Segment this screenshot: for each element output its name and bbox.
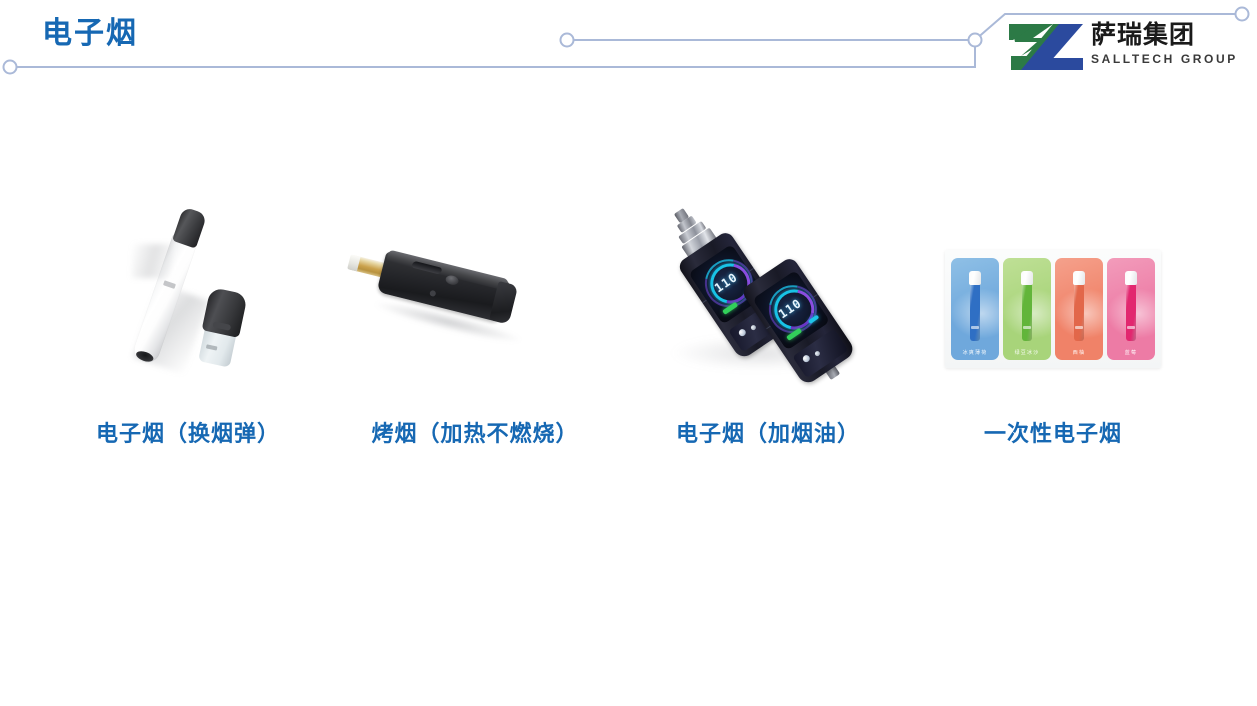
vape-brand-mark bbox=[1127, 326, 1135, 329]
product-caption: 一次性电子烟 bbox=[913, 416, 1193, 448]
vape-brand-mark bbox=[1023, 326, 1031, 329]
vape-mouthpiece-cap bbox=[1125, 271, 1137, 285]
product-card-pod-system: 电子烟（换烟弹） bbox=[48, 180, 328, 470]
product-image-pod-system bbox=[48, 180, 328, 395]
flavor-label: 绿豆冰沙 bbox=[1003, 349, 1051, 356]
deco-node-junction bbox=[969, 34, 982, 47]
product-card-e-liquid-mod: 110 bbox=[628, 180, 908, 470]
product-card-heat-not-burn: 烤烟（加热不燃烧） bbox=[335, 180, 615, 470]
flavor-card-strip: 冰爽薄荷 绿豆冰沙 西柚 bbox=[945, 250, 1161, 368]
product-image-disposable: 冰爽薄荷 绿豆冰沙 西柚 bbox=[913, 180, 1193, 395]
pod-top bbox=[202, 287, 248, 338]
vape-brand-mark bbox=[1075, 326, 1083, 329]
product-image-e-liquid-mod: 110 bbox=[628, 180, 908, 395]
vape-mods-illustration: 110 bbox=[648, 186, 888, 391]
product-grid: 电子烟（换烟弹） bbox=[0, 180, 1257, 470]
logo-name-en: SALLTECH GROUP bbox=[1091, 51, 1247, 67]
vape-mouthpiece-cap bbox=[1073, 271, 1085, 285]
pen-mouthpiece-cap bbox=[172, 206, 207, 248]
product-caption: 烤烟（加热不燃烧） bbox=[335, 416, 615, 448]
logo-text-block: 萨瑞集团 SALLTECH GROUP bbox=[1091, 20, 1247, 67]
product-image-heat-not-burn bbox=[335, 180, 615, 395]
page-title: 电子烟 bbox=[42, 14, 138, 54]
product-caption: 电子烟（加烟油） bbox=[628, 416, 908, 448]
company-logo: 萨瑞集团 SALLTECH GROUP bbox=[1007, 18, 1247, 78]
vape-brand-mark bbox=[971, 326, 979, 329]
flavor-card: 冰爽薄荷 bbox=[951, 258, 999, 360]
product-card-disposable: 冰爽薄荷 绿豆冰沙 西柚 bbox=[913, 180, 1193, 470]
product-caption: 电子烟（换烟弹） bbox=[48, 416, 328, 448]
flavor-label: 西柚 bbox=[1055, 349, 1103, 356]
vape-mouthpiece-cap bbox=[1021, 271, 1033, 285]
deco-node-middle bbox=[561, 34, 574, 47]
logo-mark-icon bbox=[1007, 22, 1085, 72]
flavor-card: 西柚 bbox=[1055, 258, 1103, 360]
logo-name-cn: 萨瑞集团 bbox=[1091, 20, 1247, 50]
deco-node-left bbox=[4, 61, 17, 74]
flavor-card: 绿豆冰沙 bbox=[1003, 258, 1051, 360]
vape-pen-illustration bbox=[108, 198, 228, 378]
slide-root: 电子烟 萨瑞集团 SALLTECH GROUP bbox=[0, 0, 1257, 706]
device-rotation-group bbox=[336, 235, 549, 361]
deco-lower-path bbox=[10, 40, 975, 67]
pod-shadow bbox=[132, 244, 172, 278]
flavor-card: 蓝莓 bbox=[1107, 258, 1155, 360]
flavor-label: 蓝莓 bbox=[1107, 349, 1155, 356]
flavor-label: 冰爽薄荷 bbox=[951, 349, 999, 356]
vape-mouthpiece-cap bbox=[969, 271, 981, 285]
heat-not-burn-illustration bbox=[343, 258, 543, 338]
